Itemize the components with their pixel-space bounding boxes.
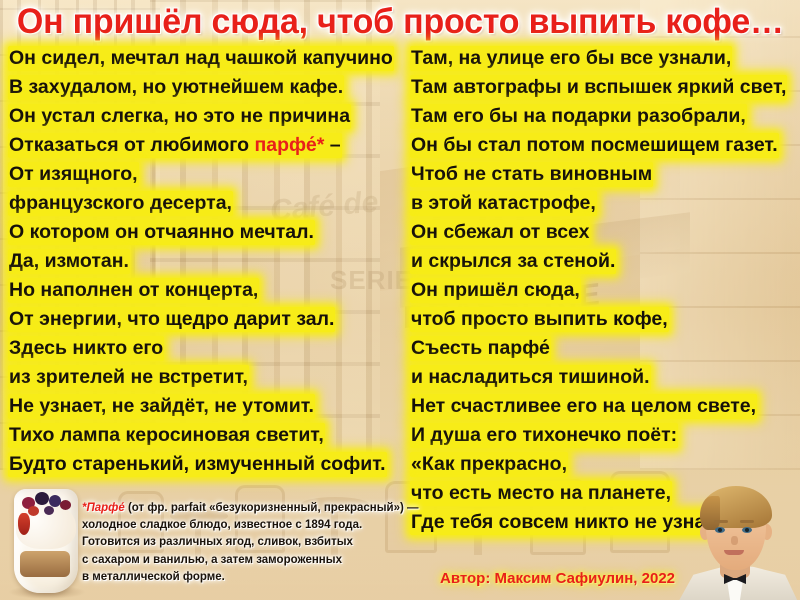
poem-line: в этой катастрофе, xyxy=(410,191,800,220)
portrait-eye-left xyxy=(715,527,725,533)
poem-line: Там автографы и вспышек яркий свет, xyxy=(410,75,800,104)
poem-line-text: Он сидел, мечтал над чашкой капучино xyxy=(8,46,394,71)
poem-column-right: Там, на улице его бы все узнали, Там авт… xyxy=(400,46,800,501)
poem-line: О котором он отчаянно мечтал. xyxy=(8,220,400,249)
poem-line: чтоб просто выпить кофе, xyxy=(410,307,800,336)
poem-line-text: Да, измотан. xyxy=(8,249,130,274)
berry-raspberry xyxy=(60,500,71,510)
portrait-hair-fringe xyxy=(700,496,720,530)
poem-line: От энергии, что щедро дарит зал. xyxy=(8,307,400,336)
poem-column-left: Он сидел, мечтал над чашкой капучино В з… xyxy=(0,46,400,501)
poem-line-text: чтоб просто выпить кофе, xyxy=(410,307,669,332)
berry-blackberry xyxy=(35,492,49,505)
poem-line-text: Отказаться от любимого парфе́* – xyxy=(8,133,342,158)
poem-line: Он бы стал потом посмешищем газет. xyxy=(410,133,800,162)
poem-line-text: Там его бы на подарки разобрали, xyxy=(410,104,747,129)
poem-line-text: Съесть парфе́ xyxy=(410,336,551,361)
poem-line-text: Он пришёл сюда, xyxy=(410,278,581,303)
poem-line: Да, измотан. xyxy=(8,249,400,278)
poem-line: Он устал слегка, но это не причина xyxy=(8,104,400,133)
poem-line: и насладиться тишиной. xyxy=(410,365,800,394)
poem-line: из зрителей не встретит, xyxy=(8,365,400,394)
poem-line-text: От изящного, xyxy=(8,162,139,187)
poem-line: От изящного, xyxy=(8,162,400,191)
poem-line-text: Он бы стал потом посмешищем газет. xyxy=(410,133,779,158)
parfait-chocolate-layer xyxy=(20,551,70,577)
portrait-mouth xyxy=(724,550,744,555)
poem-line: Здесь никто его xyxy=(8,336,400,365)
poem-line: и скрылся за стеной. xyxy=(410,249,800,278)
poem-line-tail: – xyxy=(324,134,340,156)
poem-line: Он сидел, мечтал над чашкой капучино xyxy=(8,46,400,75)
poem-line-text: и скрылся за стеной. xyxy=(410,249,616,274)
footnote-term-inline: парфе́* xyxy=(255,134,325,156)
poem-line-text: Тихо лампа керосиновая светит, xyxy=(8,423,325,448)
poem-line-text: Там, на улице его бы все узнали, xyxy=(410,46,732,71)
poem-body: Он сидел, мечтал над чашкой капучино В з… xyxy=(0,46,800,501)
poem-line: Там, на улице его бы все узнали, xyxy=(410,46,800,75)
poem-line-text: французского десерта, xyxy=(8,191,233,216)
poem-line-text: О котором он отчаянно мечтал. xyxy=(8,220,315,245)
portrait-brow-left xyxy=(714,520,728,523)
poem-line-text: в этой катастрофе, xyxy=(410,191,597,216)
portrait-nose xyxy=(731,536,738,545)
poem-line: Нет счастливее его на целом свете, xyxy=(410,394,800,423)
poem-line-text: Не узнает, не зайдёт, не утомит. xyxy=(8,394,315,419)
poem-line-text: Чтоб не стать виновным xyxy=(410,162,653,187)
poem-line: Он пришёл сюда, xyxy=(410,278,800,307)
page-title: Он пришёл сюда, чтоб просто выпить кофе… xyxy=(17,2,784,42)
poem-line: Тихо лампа керосиновая светит, xyxy=(8,423,400,452)
title-banner: Он пришёл сюда, чтоб просто выпить кофе… xyxy=(0,0,800,44)
berry-strawberry xyxy=(28,506,39,516)
footnote-line-3: Готовится из различных ягод, сливок, взб… xyxy=(82,534,562,551)
poem-line: Съесть парфе́ xyxy=(410,336,800,365)
poem-line: В захудалом, но уютнейшем кафе. xyxy=(8,75,400,104)
poem-line-text: Там автографы и вспышек яркий свет, xyxy=(410,75,787,100)
poem-line: Но наполнен от концерта, xyxy=(8,278,400,307)
footnote-definition: (от фр. parfait «безукоризненный, прекра… xyxy=(125,502,419,514)
portrait-brow-right xyxy=(740,520,754,523)
poem-line-text: И душа его тихонечко поёт: xyxy=(410,423,678,448)
poem-line: И душа его тихонечко поёт: xyxy=(410,423,800,452)
poem-line-text: из зрителей не встретит, xyxy=(8,365,249,390)
poem-line: Не узнает, не зайдёт, не утомит. xyxy=(8,394,400,423)
poem-line: Чтоб не стать виновным xyxy=(410,162,800,191)
poem-line-text: В захудалом, но уютнейшем кафе. xyxy=(8,75,344,100)
strawberry-slice xyxy=(18,513,30,535)
footnote-line-4: с сахаром и ванилью, а затем замороженны… xyxy=(82,552,562,569)
poem-line-text: Здесь никто его xyxy=(8,336,164,361)
portrait-eye-right xyxy=(742,527,752,533)
poem-line-with-accent: Отказаться от любимого парфе́* – xyxy=(8,133,400,162)
poem-line: французского десерта, xyxy=(8,191,400,220)
author-portrait xyxy=(670,470,800,600)
poster-root: Café de CAFÉ SERIE BRASSERIE Он пришёл с… xyxy=(0,0,800,600)
berry-blackberry xyxy=(44,506,54,515)
poem-line: Там его бы на подарки разобрали, xyxy=(410,104,800,133)
poem-line-text: Нет счастливее его на целом свете, xyxy=(410,394,757,419)
author-credit: Автор: Максим Сафиулин, 2022 xyxy=(440,570,675,587)
footnote-line-2: холодное сладкое блюдо, известное с 1894… xyxy=(82,517,562,534)
poem-line-text: От энергии, что щедро дарит зал. xyxy=(8,307,335,332)
parfait-photo xyxy=(2,473,94,598)
poem-line-text: Но наполнен от концерта, xyxy=(8,278,259,303)
poem-line-text: Он устал слегка, но это не причина xyxy=(8,104,351,129)
poem-line-lead: Отказаться от любимого xyxy=(9,134,255,156)
poem-line-text: и насладиться тишиной. xyxy=(410,365,651,390)
poem-line-text: Он сбежал от всех xyxy=(410,220,590,245)
poem-line: Он сбежал от всех xyxy=(410,220,800,249)
poem-line-text: «Как прекрасно, xyxy=(410,452,568,477)
footnote-line-1: *Парфе́ (от фр. parfait «безукоризненный… xyxy=(82,500,562,517)
